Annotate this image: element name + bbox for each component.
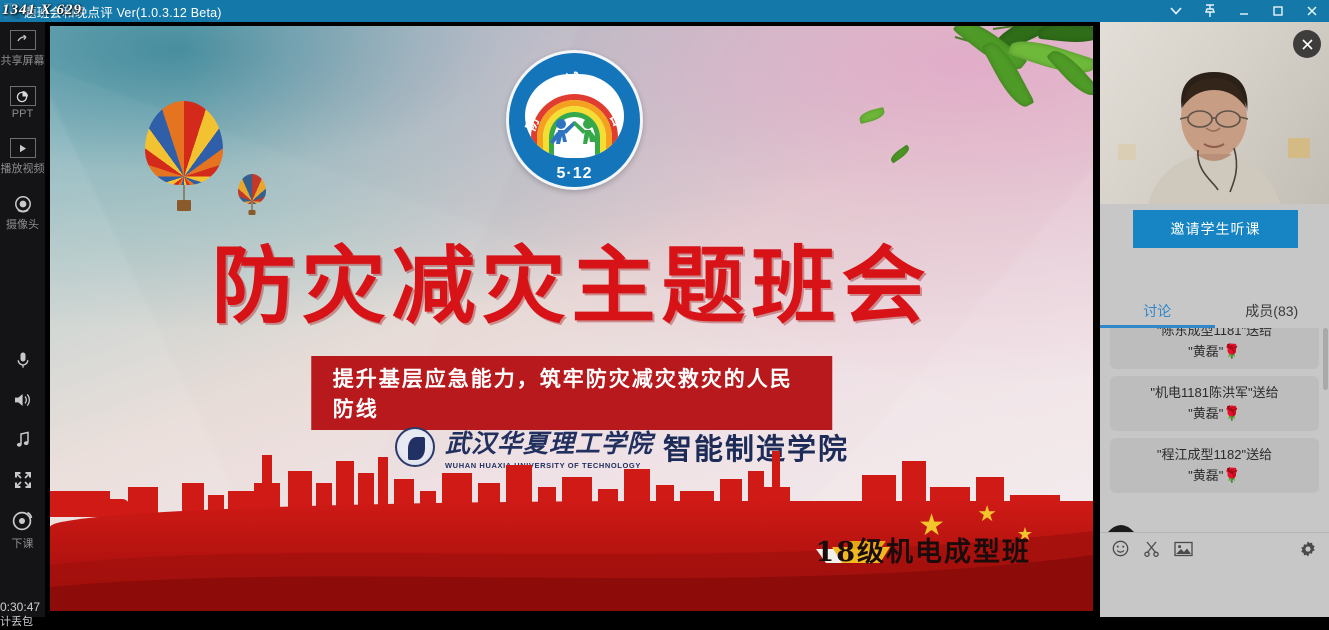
image-icon[interactable]: [1174, 541, 1193, 557]
disaster-prevention-day-logo: 防 灾 减 灾 日 5·12: [506, 50, 643, 190]
scissors-icon[interactable]: [1143, 540, 1160, 557]
star-icon: ★: [977, 503, 997, 525]
camera-icon: [13, 194, 33, 216]
chevron-down-icon[interactable]: [1159, 0, 1193, 22]
chat-avatar-partial: [1108, 518, 1134, 532]
rose-icon: 🌹: [1223, 343, 1240, 359]
chat-composer[interactable]: [1100, 564, 1329, 617]
rail-status: 0:30:47 计丢包: [0, 600, 45, 630]
rail-label-camera: 摄像头: [6, 216, 39, 232]
slide-subtitle: 提升基层应急能力，筑牢防灾减灾救灾的人民防线: [333, 367, 793, 421]
chat-message-line2: "黄磊": [1188, 468, 1223, 483]
music-icon[interactable]: [0, 420, 45, 460]
rail-item-share-screen[interactable]: 共享屏幕: [0, 30, 45, 68]
leaves-decoration: [843, 26, 1093, 208]
chat-message: "程江成型1182"送给 "黄磊"🌹: [1110, 438, 1319, 493]
chat-message-line1: "机电1181陈洪军"送给: [1150, 385, 1278, 400]
right-panel: 邀请学生听课 讨论 成员(83) "陈东成型1181"送给 "黄磊"🌹 "机电1…: [1100, 22, 1329, 617]
title-bar: 题班会和晚点评 Ver(1.0.3.12 Beta): [0, 0, 1329, 22]
slide-canvas[interactable]: 防 灾 减 灾 日 5·12 防灾减灾主题班会 提升基层应急能力，筑牢防灾减灾救…: [50, 26, 1093, 611]
minimize-button[interactable]: [1227, 0, 1261, 22]
slide-class-name: 18级机电成型班: [815, 530, 1031, 569]
rose-icon: 🌹: [1223, 467, 1240, 483]
fullscreen-icon[interactable]: [0, 460, 45, 500]
gear-icon[interactable]: [1299, 540, 1317, 558]
logo-date-text: 5·12: [506, 165, 643, 183]
left-tool-rail: 共享屏幕 PPT 播放视频 摄像头: [0, 22, 45, 617]
rail-item-play-video[interactable]: 播放视频: [0, 138, 45, 176]
hot-air-balloon-small: [238, 174, 266, 204]
slide-headline: 防灾减灾主题班会: [50, 244, 1093, 328]
chat-scrollbar[interactable]: [1323, 328, 1328, 390]
rail-item-camera[interactable]: 摄像头: [0, 194, 45, 232]
session-timer: 0:30:47: [0, 600, 45, 615]
slide-subtitle-bar: 提升基层应急能力，筑牢防灾减灾救灾的人民防线: [311, 356, 833, 430]
chat-message-line1: "陈东成型1181"送给: [1157, 328, 1272, 338]
pin-icon[interactable]: [1193, 0, 1227, 22]
rose-icon: 🌹: [1223, 405, 1240, 421]
chat-message: "机电1181陈洪军"送给 "黄磊"🌹: [1110, 376, 1319, 431]
chat-toolbar: [1100, 532, 1329, 564]
rail-tools-group: 共享屏幕 PPT 播放视频 摄像头: [0, 22, 45, 232]
tab-members[interactable]: 成员(83): [1215, 294, 1329, 328]
chat-message: "陈东成型1181"送给 "黄磊"🌹: [1110, 328, 1319, 369]
red-base-band: ★ ★ ★ 18级机电成型班: [50, 501, 1093, 611]
rail-label-play-video: 播放视频: [1, 160, 45, 176]
packet-loss-label: 计丢包: [0, 615, 45, 630]
rail-item-end-class[interactable]: 下课: [0, 507, 45, 551]
resolution-badge: 1341 X 629: [0, 0, 82, 20]
close-icon[interactable]: [1293, 30, 1321, 58]
chat-message-line2: "黄磊": [1188, 406, 1223, 421]
close-button[interactable]: [1295, 0, 1329, 22]
maximize-button[interactable]: [1261, 0, 1295, 22]
ppt-icon: [10, 86, 36, 106]
tab-discussion[interactable]: 讨论: [1100, 294, 1215, 328]
panel-tabs: 讨论 成员(83): [1100, 294, 1329, 328]
webcam-video[interactable]: [1100, 22, 1329, 204]
rail-label-share-screen: 共享屏幕: [1, 52, 45, 68]
end-class-icon: [0, 507, 45, 533]
invite-students-button[interactable]: 邀请学生听课: [1133, 210, 1298, 248]
chat-message-line2: "黄磊": [1188, 344, 1223, 359]
rail-media-group: [0, 340, 45, 500]
microphone-icon[interactable]: [0, 340, 45, 380]
chat-message-line1: "程江成型1182"送给: [1157, 447, 1272, 462]
play-video-icon: [10, 138, 36, 158]
rail-item-ppt[interactable]: PPT: [0, 86, 45, 120]
speaker-icon[interactable]: [0, 380, 45, 420]
rail-label-end-class: 下课: [0, 535, 45, 551]
rail-label-ppt: PPT: [12, 108, 33, 120]
chat-message-list[interactable]: "陈东成型1181"送给 "黄磊"🌹 "机电1181陈洪军"送给 "黄磊"🌹 "…: [1100, 328, 1329, 529]
presentation-stage[interactable]: 防 灾 减 灾 日 5·12 防灾减灾主题班会 提升基层应急能力，筑牢防灾减灾救…: [45, 22, 1100, 617]
hot-air-balloon-large: [145, 101, 223, 185]
emoji-icon[interactable]: [1112, 540, 1129, 557]
share-screen-icon: [10, 30, 36, 50]
